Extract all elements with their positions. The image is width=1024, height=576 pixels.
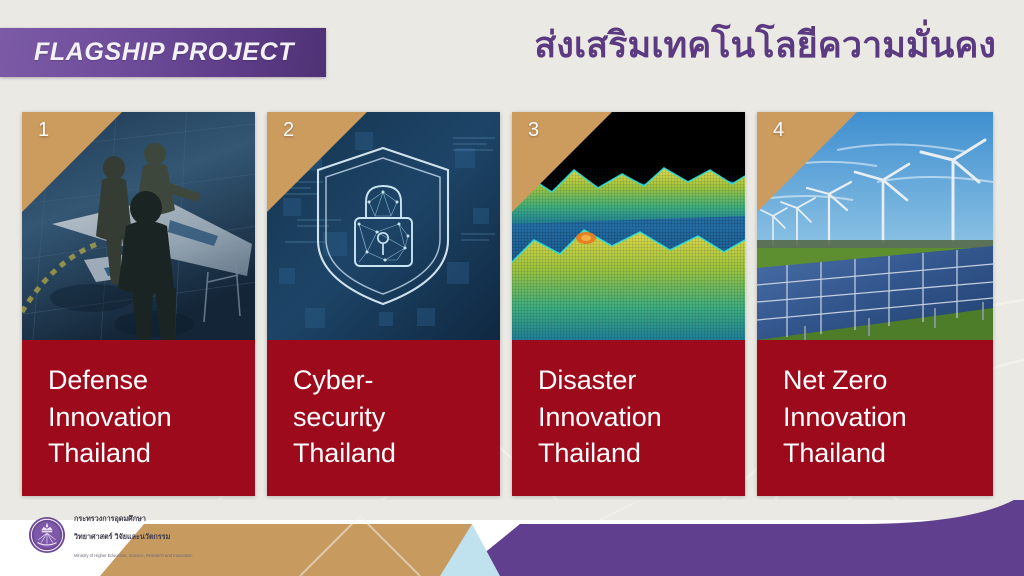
flagship-project-card-grid: 1 Defense Innovation Thailand — [0, 112, 1024, 496]
card-caption: Disaster Innovation Thailand — [512, 340, 745, 496]
card-number-label: 2 — [283, 120, 294, 140]
corner-triangle-shape — [512, 112, 612, 212]
card-disaster-innovation-thailand[interactable]: 3 Disaster Innovation Thailand — [512, 112, 745, 496]
ministry-name-line2: วิทยาศาสตร์ วิจัยและนวัตกรรม — [74, 532, 170, 541]
corner-triangle-shape — [757, 112, 857, 212]
card-number-badge: 1 — [22, 112, 122, 212]
card-net-zero-innovation-thailand[interactable]: 4 Net Zero Innovation Thailand — [757, 112, 993, 496]
ministry-name-line1: กระทรวงการอุดมศึกษา — [74, 514, 146, 523]
card-number-label: 3 — [528, 120, 539, 140]
slide-footer: กระทรวงการอุดมศึกษา วิทยาศาสตร์ วิจัยและ… — [0, 500, 1024, 576]
ministry-seal-icon — [28, 516, 66, 554]
flagship-project-banner: FLAGSHIP PROJECT — [0, 28, 326, 77]
card-cybersecurity-thailand[interactable]: 2 Cyber- security Thailand — [267, 112, 500, 496]
ministry-name-line3-en: Ministry of Higher Education, Science, R… — [74, 553, 192, 558]
flagship-project-label: FLAGSHIP PROJECT — [34, 38, 294, 67]
card-number-badge: 2 — [267, 112, 367, 212]
page-title: ส่งเสริมเทคโนโลยีความมั่นคง — [534, 22, 996, 67]
slide-header: FLAGSHIP PROJECT ส่งเสริมเทคโนโลยีความมั… — [0, 0, 1024, 108]
card-number-label: 4 — [773, 120, 784, 140]
ministry-name-text: กระทรวงการอุดมศึกษา วิทยาศาสตร์ วิจัยและ… — [74, 508, 192, 562]
card-title: Disaster Innovation Thailand — [538, 362, 745, 472]
card-number-label: 1 — [38, 120, 49, 140]
card-caption: Net Zero Innovation Thailand — [757, 340, 993, 496]
card-caption: Cyber- security Thailand — [267, 340, 500, 496]
card-title: Defense Innovation Thailand — [48, 362, 255, 472]
corner-triangle-shape — [22, 112, 122, 212]
card-title: Net Zero Innovation Thailand — [783, 362, 993, 472]
ministry-logo-block: กระทรวงการอุดมศึกษา วิทยาศาสตร์ วิจัยและ… — [28, 508, 192, 562]
card-title: Cyber- security Thailand — [293, 362, 500, 472]
card-defense-innovation-thailand[interactable]: 1 Defense Innovation Thailand — [22, 112, 255, 496]
card-number-badge: 3 — [512, 112, 612, 212]
card-number-badge: 4 — [757, 112, 857, 212]
card-caption: Defense Innovation Thailand — [22, 340, 255, 496]
corner-triangle-shape — [267, 112, 367, 212]
